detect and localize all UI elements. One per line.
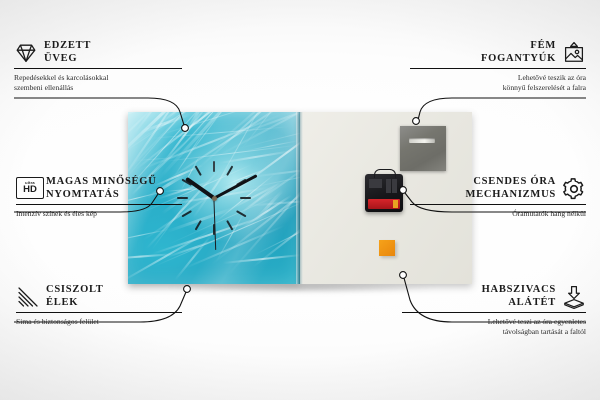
mechanism-detail: [392, 179, 397, 193]
metal-hanger-plate: [400, 126, 446, 171]
hanging-frame-icon: [562, 41, 586, 65]
divider: [14, 68, 182, 69]
battery: [368, 199, 400, 209]
feature-title: EDZETT ÜVEG: [44, 40, 91, 65]
foam-pad-arrow-icon: [562, 285, 586, 309]
gear-icon: [562, 177, 586, 201]
foam-spacer-pad: [379, 240, 395, 256]
divider: [410, 204, 586, 205]
ultra-hd-icon: ultra HD: [16, 177, 40, 201]
diamond-icon: [14, 41, 38, 65]
feature-header: EDZETT ÜVEG: [14, 40, 186, 65]
feature-header: FÉM FOGANTYÚK: [404, 40, 586, 65]
infographic-canvas: EDZETT ÜVEG Repedésekkel és karcolásokka…: [0, 0, 600, 400]
hanger-slot: [409, 138, 435, 143]
feature-tempered-glass: EDZETT ÜVEG Repedésekkel és karcolásokka…: [14, 40, 186, 92]
mechanism-handle: [374, 169, 396, 178]
divider: [410, 68, 586, 69]
feature-header: CSENDES ÓRA MECHANIZMUS: [404, 176, 586, 201]
feature-title: CSISZOLT ÉLEK: [46, 284, 104, 309]
feature-title: FÉM FOGANTYÚK: [481, 40, 556, 65]
mechanism-detail: [369, 179, 382, 188]
feature-header: CSISZOLT ÉLEK: [16, 284, 188, 309]
feature-title: CSENDES ÓRA MECHANIZMUS: [465, 176, 556, 201]
clock-front-panel: [128, 112, 300, 284]
polished-edge-icon: [16, 285, 40, 309]
mechanism-detail: [386, 179, 391, 193]
divider: [402, 312, 586, 313]
quartz-mechanism: [365, 174, 403, 212]
feature-silent-mechanism: CSENDES ÓRA MECHANIZMUS Óramutatók hang …: [404, 176, 586, 219]
feature-metal-handles: FÉM FOGANTYÚK Lehetővé teszik az óra kön…: [404, 40, 586, 92]
feature-foam-pad: HABSZIVACS ALÁTÉT Lehetővé teszi az óra …: [396, 284, 586, 336]
feature-polished-edges: CSISZOLT ÉLEK Sima és biztonságos felüle…: [16, 284, 188, 327]
feature-header: HABSZIVACS ALÁTÉT: [396, 284, 586, 309]
divider: [16, 312, 182, 313]
feature-title: HABSZIVACS ALÁTÉT: [482, 284, 556, 309]
clock-center-cap: [212, 196, 217, 201]
